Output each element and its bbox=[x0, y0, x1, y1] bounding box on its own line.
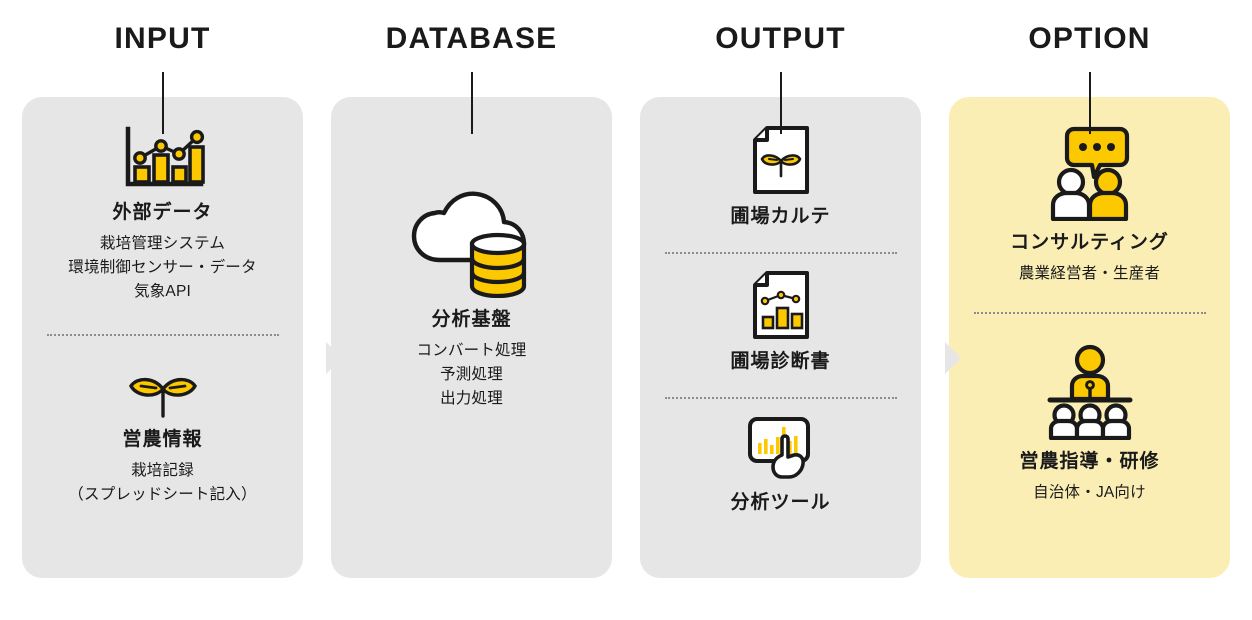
connector-line-input bbox=[162, 72, 164, 134]
column-heading-input: INPUT bbox=[22, 24, 303, 54]
connector-line-option bbox=[1089, 72, 1091, 134]
panel-output: 圃場カルテ bbox=[640, 97, 921, 578]
spacer bbox=[40, 336, 285, 372]
block-analysis-tool: 分析ツール bbox=[658, 415, 903, 522]
block-title-field-diagnosis: 圃場診断書 bbox=[730, 350, 830, 374]
spacer bbox=[658, 381, 903, 397]
panel-option: コンサルティング 農業経営者・生産者 bbox=[949, 97, 1230, 578]
block-lines-training: 自治体・JA向け bbox=[1033, 481, 1146, 505]
block-title-farming-info: 営農情報 bbox=[122, 428, 202, 452]
block-title-field-chart: 圃場カルテ bbox=[730, 205, 830, 229]
block-field-diagnosis: 圃場診断書 bbox=[658, 270, 903, 381]
cloud-database-icon bbox=[410, 182, 534, 298]
spacer bbox=[967, 286, 1212, 312]
block-lines-consulting: 農業経営者・生産者 bbox=[1019, 262, 1160, 286]
spacer bbox=[658, 399, 903, 415]
line-text: 栽培管理システム bbox=[68, 232, 256, 256]
spacer bbox=[967, 314, 1212, 344]
flow-diagram: INPUT bbox=[0, 0, 1252, 620]
block-lines-analysis-platform: コンバート処理 予測処理 出力処理 bbox=[417, 339, 527, 411]
flow-arrow-database-to-output bbox=[945, 342, 961, 374]
block-training: 営農指導・研修 自治体・JA向け bbox=[967, 344, 1212, 505]
column-output: OUTPUT bbox=[640, 0, 921, 620]
document-seedling-icon bbox=[750, 125, 812, 195]
block-title-consulting: コンサルティング bbox=[1010, 231, 1169, 255]
spacer bbox=[658, 236, 903, 252]
block-lines-farming-info: 栽培記録 （スプレッドシート記入） bbox=[68, 459, 256, 507]
panel-input: 外部データ 栽培管理システム 環境制御センサー・データ 気象API bbox=[22, 97, 303, 578]
block-analysis-platform: 分析基盤 コンバート処理 予測処理 出力処理 bbox=[349, 182, 594, 411]
block-consulting: コンサルティング 農業経営者・生産者 bbox=[967, 125, 1212, 286]
column-input: INPUT bbox=[22, 0, 303, 620]
flow-arrow-input-to-database bbox=[326, 342, 342, 374]
connector-line-database bbox=[471, 72, 473, 134]
block-title-training: 営農指導・研修 bbox=[1019, 450, 1159, 474]
bar-line-chart-icon bbox=[121, 125, 205, 191]
column-heading-database: DATABASE bbox=[331, 24, 612, 54]
block-external-data: 外部データ 栽培管理システム 環境制御センサー・データ 気象API bbox=[40, 125, 285, 304]
document-chart-icon bbox=[750, 270, 812, 340]
line-text: 環境制御センサー・データ bbox=[68, 256, 256, 280]
line-text: コンバート処理 bbox=[417, 339, 527, 363]
two-people-speech-icon bbox=[1044, 125, 1136, 221]
column-database: DATABASE bbox=[331, 0, 612, 620]
block-title-analysis-platform: 分析基盤 bbox=[431, 308, 511, 332]
line-text: 栽培記録 bbox=[68, 459, 256, 483]
block-lines-external-data: 栽培管理システム 環境制御センサー・データ 気象API bbox=[68, 232, 256, 304]
seedling-icon bbox=[127, 372, 199, 418]
line-text: 気象API bbox=[68, 280, 256, 304]
spacer bbox=[40, 304, 285, 334]
block-farming-info: 営農情報 栽培記録 （スプレッドシート記入） bbox=[40, 372, 285, 507]
spacer bbox=[658, 254, 903, 270]
line-text: 予測処理 bbox=[417, 363, 527, 387]
line-text: 自治体・JA向け bbox=[1033, 481, 1146, 505]
column-heading-output: OUTPUT bbox=[640, 24, 921, 54]
column-heading-option: OPTION bbox=[949, 24, 1230, 54]
column-option: OPTION bbox=[949, 0, 1230, 620]
block-title-analysis-tool: 分析ツール bbox=[730, 491, 830, 515]
seminar-people-icon bbox=[1044, 344, 1136, 440]
connector-line-output bbox=[780, 72, 782, 134]
line-text: 農業経営者・生産者 bbox=[1019, 262, 1160, 286]
block-field-chart: 圃場カルテ bbox=[658, 125, 903, 236]
block-title-external-data: 外部データ bbox=[112, 201, 212, 225]
touch-chart-icon bbox=[746, 415, 816, 481]
line-text: 出力処理 bbox=[417, 387, 527, 411]
line-text: （スプレッドシート記入） bbox=[68, 483, 256, 507]
panel-database: 分析基盤 コンバート処理 予測処理 出力処理 bbox=[331, 97, 612, 578]
